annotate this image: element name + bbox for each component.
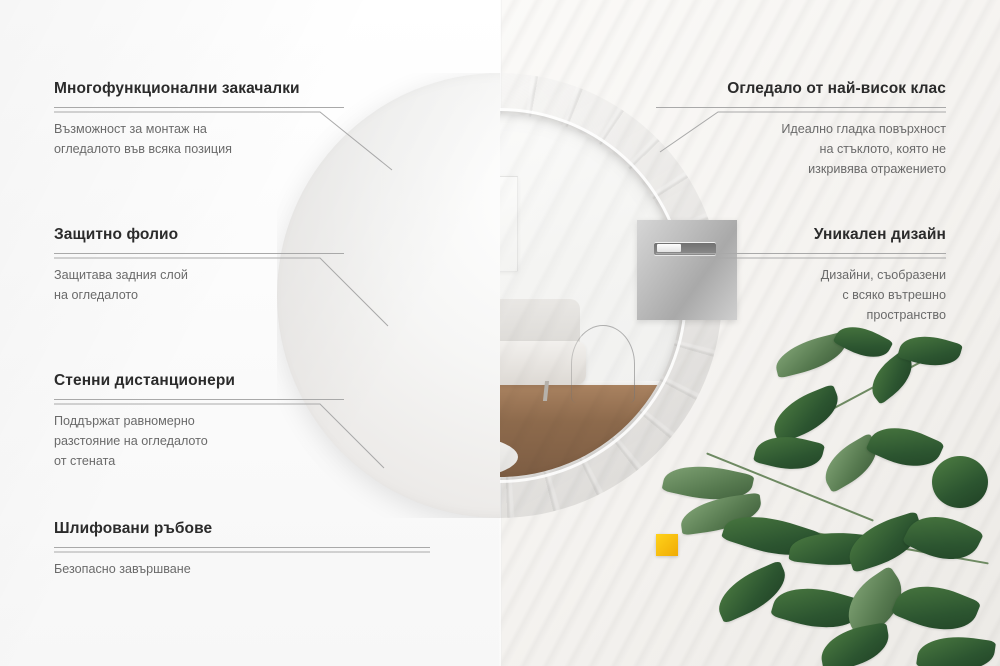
- callout-line: разстояние на огледалото: [54, 434, 208, 448]
- callout-line: изкривява отражението: [808, 162, 946, 176]
- callout-line: на стъклото, която не: [820, 142, 946, 156]
- callout-line: Идеално гладка повърхност: [781, 122, 946, 136]
- plant-leaf: [916, 631, 996, 666]
- callout-line: на огледалото: [54, 288, 138, 302]
- callout-description: Поддържат равномерно разстояние на оглед…: [54, 411, 344, 471]
- callout-line: Възможност за монтаж на: [54, 122, 207, 136]
- callout-line: Дизайни, съобразени: [821, 268, 946, 282]
- callout-line: Поддържат равномерно: [54, 414, 195, 428]
- callout-title: Многофункционални закачалки: [54, 80, 344, 98]
- decorative-plant: [670, 336, 1000, 666]
- callout-polished-edges: Шлифовани ръбове Безопасно завършване: [54, 520, 430, 579]
- callout-rule: [54, 253, 344, 254]
- callout-wall-spacers: Стенни дистанционери Поддържат равномерн…: [54, 372, 344, 471]
- plant-leaf: [766, 384, 846, 444]
- callout-title: Уникален дизайн: [656, 226, 946, 244]
- callout-protective-foil: Защитно фолио Защитава задния слой на ог…: [54, 226, 344, 305]
- callout-unique-design: Уникален дизайн Дизайни, съобразени с вс…: [656, 226, 946, 325]
- plant-leaf: [932, 456, 988, 508]
- callout-top-class-mirror: Огледало от най-висок клас Идеално гладк…: [656, 80, 946, 179]
- callout-multifunctional-hangers: Многофункционални закачалки Възможност з…: [54, 80, 344, 159]
- callout-line: Безопасно завършване: [54, 562, 191, 576]
- plant-leaf: [891, 573, 982, 644]
- callout-rule: [656, 107, 946, 108]
- callout-rule: [54, 399, 344, 400]
- plant-leaf: [865, 415, 944, 478]
- plant-leaf: [817, 622, 893, 666]
- callout-rule: [54, 107, 344, 108]
- callout-line: огледалото във всяка позиция: [54, 142, 232, 156]
- infographic-canvas: Многофункционални закачалки Възможност з…: [0, 0, 1000, 666]
- callout-description: Защитава задния слой на огледалото: [54, 265, 344, 305]
- callout-rule: [54, 547, 430, 548]
- callout-title: Защитно фолио: [54, 226, 344, 244]
- callout-title: Шлифовани ръбове: [54, 520, 430, 538]
- callout-title: Стенни дистанционери: [54, 372, 344, 390]
- callout-line: от стената: [54, 454, 115, 468]
- callout-rule: [656, 253, 946, 254]
- callout-line: Защитава задния слой: [54, 268, 188, 282]
- callout-description: Дизайни, съобразени с всяко вътрешно про…: [656, 265, 946, 325]
- callout-description: Безопасно завършване: [54, 559, 430, 579]
- callout-title: Огледало от най-висок клас: [656, 80, 946, 98]
- callout-line: с всяко вътрешно: [842, 288, 946, 302]
- callout-line: пространство: [867, 308, 946, 322]
- callout-description: Възможност за монтаж на огледалото във в…: [54, 119, 344, 159]
- callout-description: Идеално гладка повърхност на стъклото, к…: [656, 119, 946, 179]
